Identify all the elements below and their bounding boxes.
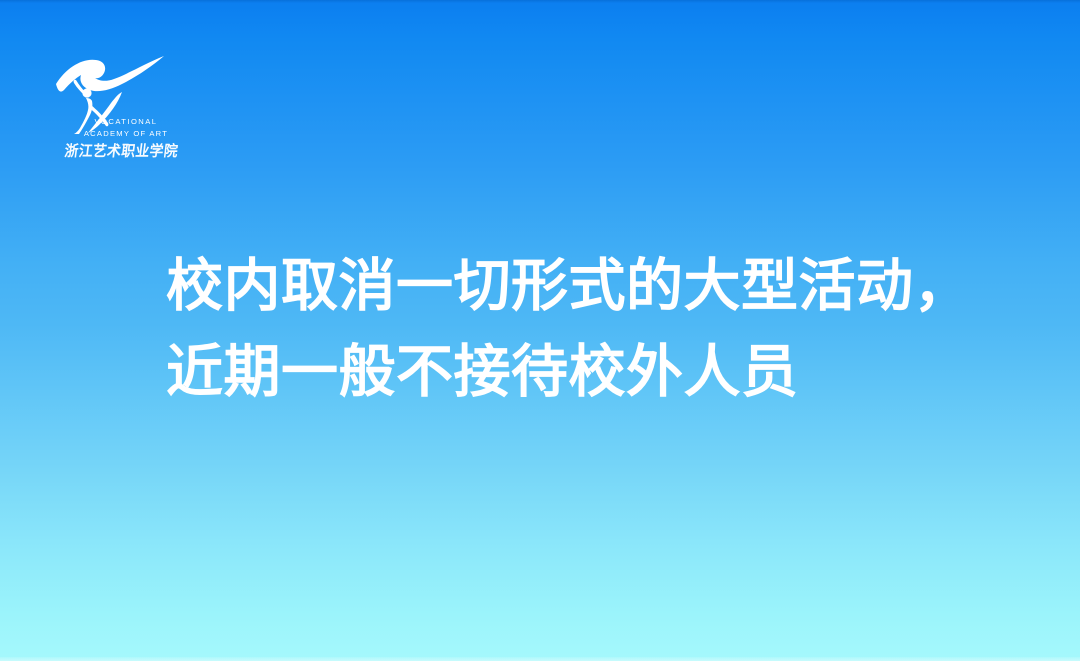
announcement-poster: VOCATIONAL ACADEMY OF ART 浙江艺术职业学院 校内取消一… [0,0,1080,661]
logo-english-text: VOCATIONAL ACADEMY OF ART [74,116,178,139]
logo-english-line-2: ACADEMY OF ART [74,128,178,140]
top-edge-shade [0,0,1080,3]
headline-block: 校内取消一切形式的大型活动， 近期一般不接待校外人员 [166,243,986,415]
bottom-edge-highlight [0,657,1080,661]
headline-line-2: 近期一般不接待校外人员 [166,329,986,415]
logo-english-line-1: VOCATIONAL [74,116,178,128]
headline-line-1: 校内取消一切形式的大型活动， [166,243,986,329]
logo-chinese-name: 浙江艺术职业学院 [64,142,173,160]
school-logo: VOCATIONAL ACADEMY OF ART 浙江艺术职业学院 [52,48,178,176]
